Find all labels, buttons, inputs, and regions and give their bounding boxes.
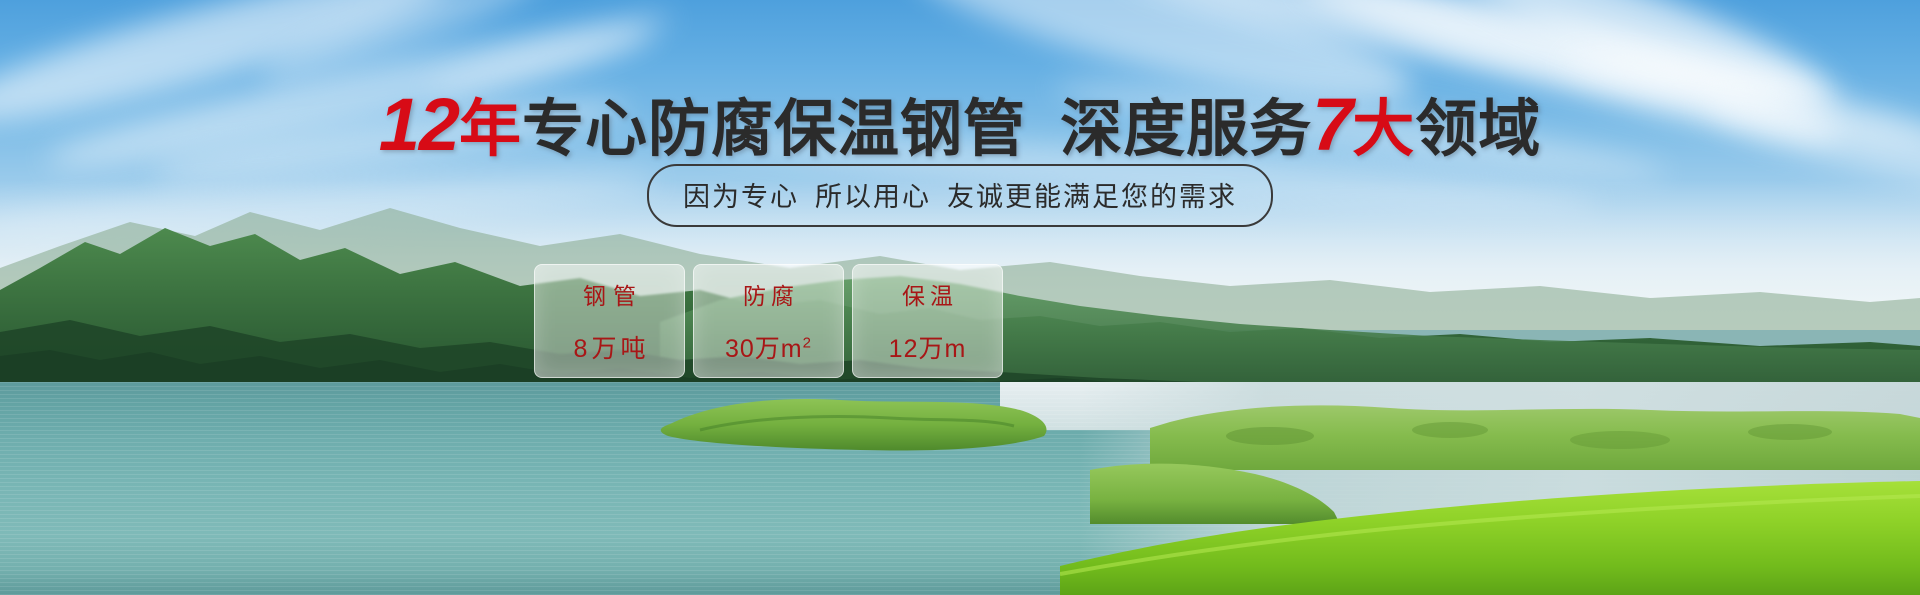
foreground-grass bbox=[1060, 470, 1920, 595]
stat-card-value: 8万吨 bbox=[570, 329, 650, 365]
stat-card-value-base: 30万m bbox=[725, 335, 803, 363]
headline-fields-text: 领域 bbox=[1415, 95, 1541, 164]
subtitle-part-2: 所以用心 bbox=[815, 182, 931, 212]
stats-card-group: 钢管 8万吨 防腐 30万m2 保温 12万m bbox=[534, 264, 1003, 378]
headline-service-text: 深度服务 bbox=[1060, 95, 1312, 164]
grass-island bbox=[640, 384, 1060, 454]
headline-main-text: 专心防腐保温钢管 bbox=[522, 95, 1026, 164]
subtitle-pill: 因为专心所以用心友诚更能满足您的需求 bbox=[647, 164, 1273, 227]
headline-years-unit: 年 bbox=[459, 95, 522, 164]
stat-card-label: 保温 bbox=[897, 277, 958, 311]
headline-fields-unit: 大 bbox=[1352, 95, 1415, 164]
stat-card-value-base: 8万吨 bbox=[574, 335, 650, 363]
subtitle-part-3: 友诚更能满足您的需求 bbox=[947, 182, 1237, 212]
headline-years-number: 12 bbox=[379, 83, 459, 166]
stat-card-value-superscript: 2 bbox=[803, 335, 812, 352]
stat-card-steel-pipe[interactable]: 钢管 8万吨 bbox=[534, 264, 685, 378]
stat-card-insulation[interactable]: 保温 12万m bbox=[852, 264, 1003, 378]
stat-card-anticorrosion[interactable]: 防腐 30万m2 bbox=[693, 264, 844, 378]
stat-card-value-base: 12万m bbox=[889, 335, 967, 363]
stat-card-label: 钢管 bbox=[576, 277, 643, 311]
page-title: 12年专心防腐保温钢管深度服务7大领域 bbox=[0, 88, 1920, 162]
stat-card-label: 防腐 bbox=[738, 277, 799, 311]
stat-card-value: 12万m bbox=[889, 329, 967, 365]
promotional-banner: 12年专心防腐保温钢管深度服务7大领域 因为专心所以用心友诚更能满足您的需求 钢… bbox=[0, 0, 1920, 595]
stat-card-value: 30万m2 bbox=[725, 329, 812, 365]
headline-fields-number: 7 bbox=[1312, 83, 1352, 166]
subtitle-part-1: 因为专心 bbox=[683, 182, 799, 212]
